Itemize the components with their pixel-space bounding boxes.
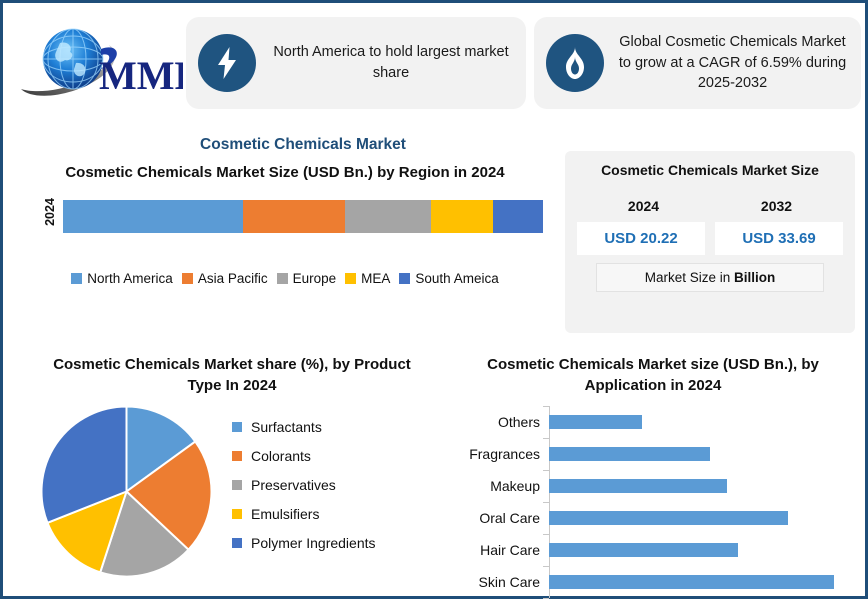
pie-chart — [39, 404, 214, 579]
market-size-panel: Cosmetic Chemicals Market Size 2024 2032… — [565, 151, 855, 333]
region-chart-legend: North AmericaAsia PacificEuropeMEASouth … — [11, 271, 559, 286]
region-legend-label: MEA — [361, 271, 390, 286]
application-bar-track — [549, 409, 863, 435]
application-bar-row: Fragrances — [443, 441, 863, 467]
application-axis-tick — [543, 566, 549, 567]
kpi-card-market-share: North America to hold largest market sha… — [186, 17, 526, 109]
application-bar-track — [549, 537, 863, 563]
application-bar-row: Skin Care — [443, 569, 863, 595]
region-chart-title: Cosmetic Chemicals Market Size (USD Bn.)… — [11, 163, 559, 183]
application-bar-track — [549, 569, 863, 595]
region-segment — [243, 200, 345, 233]
application-axis-tick — [543, 470, 549, 471]
region-legend-item: South Ameica — [399, 271, 498, 286]
market-size-year-2032: 2032 — [761, 198, 792, 214]
application-bar-row: Others — [443, 409, 863, 435]
application-axis-tick — [543, 534, 549, 535]
header: MMR North America to hold largest market… — [3, 3, 865, 121]
legend-swatch-icon — [182, 273, 193, 284]
svg-text:MMR: MMR — [99, 53, 183, 98]
flame-drop-icon — [546, 34, 604, 92]
product-type-legend-label: Emulsifiers — [251, 506, 319, 522]
product-type-chart-body: SurfactantsColorantsPreservativesEmulsif… — [17, 404, 447, 579]
application-bar-track — [549, 505, 863, 531]
globe-icon: MMR — [13, 21, 183, 103]
product-type-legend-item: Preservatives — [232, 477, 447, 493]
kpi-card-cagr: Global Cosmetic Chemicals Market to grow… — [534, 17, 861, 109]
legend-swatch-icon — [277, 273, 288, 284]
product-type-legend-item: Colorants — [232, 448, 447, 464]
application-bar-row: Makeup — [443, 473, 863, 499]
region-segment — [493, 200, 543, 233]
region-legend-label: Europe — [293, 271, 337, 286]
region-legend-label: South Ameica — [415, 271, 498, 286]
region-legend-item: Europe — [277, 271, 337, 286]
region-chart-plot: 2024 — [11, 197, 559, 255]
product-type-legend-item: Surfactants — [232, 419, 447, 435]
region-segment — [431, 200, 493, 233]
application-bar-label: Oral Care — [443, 510, 549, 526]
application-chart-title: Cosmetic Chemicals Market size (USD Bn.)… — [443, 355, 863, 396]
kpi-card-market-share-text: North America to hold largest market sha… — [268, 42, 514, 83]
legend-swatch-icon — [71, 273, 82, 284]
application-bar-track — [549, 473, 863, 499]
legend-swatch-icon — [232, 509, 242, 519]
legend-swatch-icon — [232, 422, 242, 432]
application-bar — [549, 415, 642, 429]
application-bar-label: Hair Care — [443, 542, 549, 558]
application-chart: Cosmetic Chemicals Market size (USD Bn.)… — [443, 355, 863, 598]
region-legend-label: North America — [87, 271, 173, 286]
application-bar — [549, 543, 738, 557]
region-chart-y-axis-label: 2024 — [43, 191, 57, 233]
legend-swatch-icon — [345, 273, 356, 284]
mmr-logo: MMR — [13, 21, 183, 103]
lightning-bolt-icon — [198, 34, 256, 92]
region-stacked-bar — [63, 200, 543, 233]
market-size-unit-bold: Billion — [734, 270, 775, 285]
market-size-year-2024: 2024 — [628, 198, 659, 214]
region-legend-item: North America — [71, 271, 173, 286]
application-bar-track — [549, 441, 863, 467]
kpi-card-cagr-text: Global Cosmetic Chemicals Market to grow… — [616, 32, 849, 94]
product-type-legend-label: Colorants — [251, 448, 311, 464]
market-size-years: 2024 2032 — [577, 198, 843, 214]
product-type-chart-title: Cosmetic Chemicals Market share (%), by … — [17, 355, 447, 396]
application-axis-tick — [543, 438, 549, 439]
region-chart: Cosmetic Chemicals Market Size (USD Bn.)… — [11, 163, 559, 286]
legend-swatch-icon — [399, 273, 410, 284]
application-bar — [549, 575, 834, 589]
region-legend-item: MEA — [345, 271, 390, 286]
product-type-legend-item: Emulsifiers — [232, 506, 447, 522]
product-type-legend-label: Polymer Ingredients — [251, 535, 376, 551]
product-type-legend-label: Preservatives — [251, 477, 336, 493]
legend-swatch-icon — [232, 480, 242, 490]
application-bar — [549, 447, 710, 461]
region-legend-label: Asia Pacific — [198, 271, 268, 286]
region-segment — [63, 200, 243, 233]
application-bar — [549, 479, 727, 493]
application-bar-row: Oral Care — [443, 505, 863, 531]
application-axis-tick — [543, 502, 549, 503]
market-size-values: USD 20.22 USD 33.69 — [577, 222, 843, 255]
market-size-panel-title: Cosmetic Chemicals Market Size — [577, 161, 843, 180]
region-legend-item: Asia Pacific — [182, 271, 268, 286]
legend-swatch-icon — [232, 538, 242, 548]
page-title: Cosmetic Chemicals Market — [3, 136, 603, 154]
application-bar-label: Makeup — [443, 478, 549, 494]
market-size-value-2024: USD 20.22 — [577, 222, 705, 255]
application-bar-label: Skin Care — [443, 574, 549, 590]
product-type-chart: Cosmetic Chemicals Market share (%), by … — [17, 355, 447, 579]
application-axis-tick — [543, 406, 549, 407]
market-size-value-2032: USD 33.69 — [715, 222, 843, 255]
application-bar-label: Fragrances — [443, 446, 549, 462]
product-type-legend-item: Polymer Ingredients — [232, 535, 447, 551]
region-segment — [345, 200, 431, 233]
application-chart-rows: OthersFragrancesMakeupOral CareHair Care… — [443, 406, 863, 598]
product-type-legend-label: Surfactants — [251, 419, 322, 435]
infographic-frame: MMR North America to hold largest market… — [0, 0, 868, 599]
product-type-chart-legend: SurfactantsColorantsPreservativesEmulsif… — [232, 419, 447, 564]
application-chart-plot: OthersFragrancesMakeupOral CareHair Care… — [443, 406, 863, 598]
legend-swatch-icon — [232, 451, 242, 461]
application-bar-row: Hair Care — [443, 537, 863, 563]
application-bar-label: Others — [443, 414, 549, 430]
market-size-unit-note: Market Size in Billion — [596, 263, 825, 292]
application-bar — [549, 511, 788, 525]
market-size-unit-prefix: Market Size in — [645, 270, 734, 285]
